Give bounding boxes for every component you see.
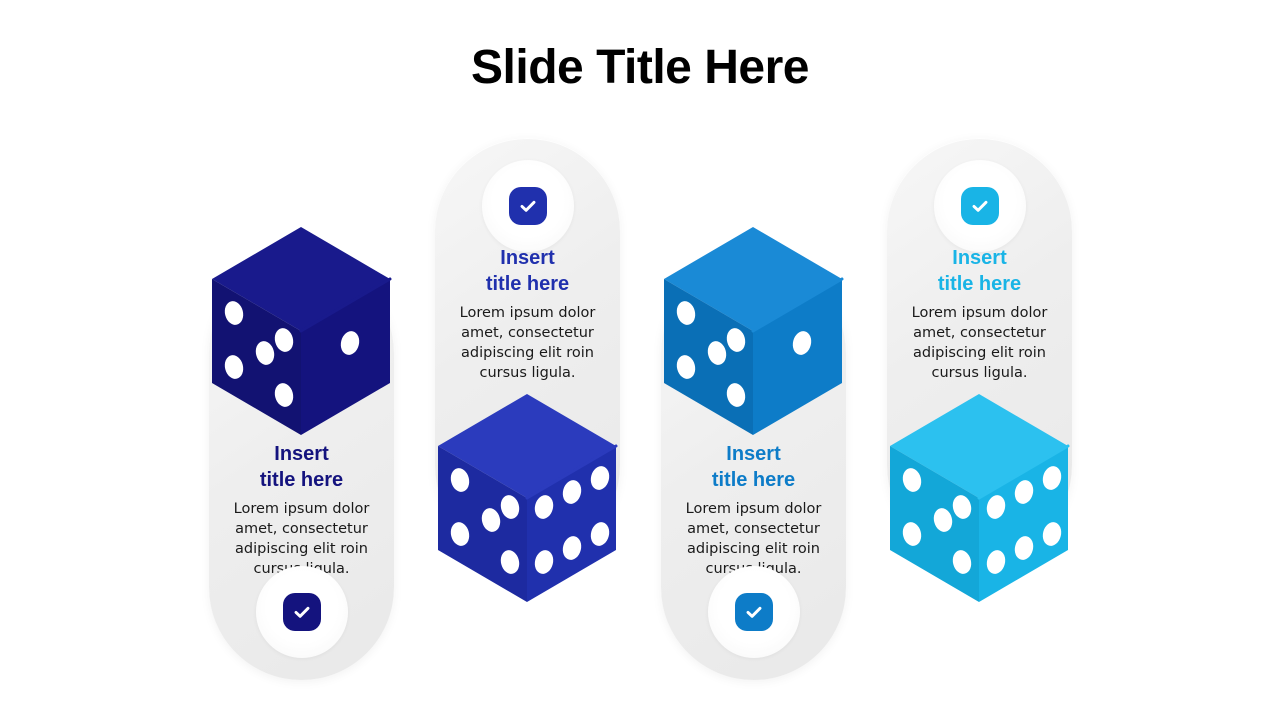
- status-badge-2[interactable]: [509, 187, 547, 225]
- badge-well-2: [482, 160, 574, 252]
- card-text-4: Insert title here Lorem ipsum dolor amet…: [895, 246, 1064, 383]
- card-body-4: Lorem ipsum dolor amet, consectetur adip…: [895, 303, 1064, 383]
- check-icon: [743, 601, 765, 623]
- card-title-1: Insert title here: [217, 442, 386, 493]
- card-text-1: Insert title here Lorem ipsum dolor amet…: [217, 442, 386, 579]
- card-title-3: Insert title here: [669, 442, 838, 493]
- isometric-die-icon-1: [208, 225, 394, 437]
- card-text-3: Insert title here Lorem ipsum dolor amet…: [669, 442, 838, 579]
- infographic-column-1[interactable]: Insert title here Lorem ipsum dolor amet…: [196, 120, 406, 680]
- infographic-columns: Insert title here Lorem ipsum dolor amet…: [0, 0, 1280, 720]
- isometric-die-icon-3: [660, 225, 846, 437]
- dice-cube-2: [434, 392, 620, 604]
- status-badge-1[interactable]: [283, 593, 321, 631]
- infographic-column-3[interactable]: Insert title here Lorem ipsum dolor amet…: [648, 120, 858, 680]
- status-badge-4[interactable]: [961, 187, 999, 225]
- slide-canvas: Slide Title Here Insert title here Lorem…: [0, 0, 1280, 720]
- badge-well-4: [934, 160, 1026, 252]
- dice-cube-4: [886, 392, 1072, 604]
- card-title-2: Insert title here: [443, 246, 612, 297]
- check-icon: [291, 601, 313, 623]
- infographic-column-4[interactable]: Insert title here Lorem ipsum dolor amet…: [874, 120, 1084, 680]
- infographic-column-2[interactable]: Insert title here Lorem ipsum dolor amet…: [422, 120, 632, 680]
- card-body-2: Lorem ipsum dolor amet, consectetur adip…: [443, 303, 612, 383]
- isometric-die-icon-2: [434, 392, 620, 604]
- badge-well-3: [708, 566, 800, 658]
- badge-well-1: [256, 566, 348, 658]
- check-icon: [517, 195, 539, 217]
- dice-cube-1: [208, 225, 394, 437]
- status-badge-3[interactable]: [735, 593, 773, 631]
- isometric-die-icon-4: [886, 392, 1072, 604]
- card-title-4: Insert title here: [895, 246, 1064, 297]
- dice-cube-3: [660, 225, 846, 437]
- card-text-2: Insert title here Lorem ipsum dolor amet…: [443, 246, 612, 383]
- check-icon: [969, 195, 991, 217]
